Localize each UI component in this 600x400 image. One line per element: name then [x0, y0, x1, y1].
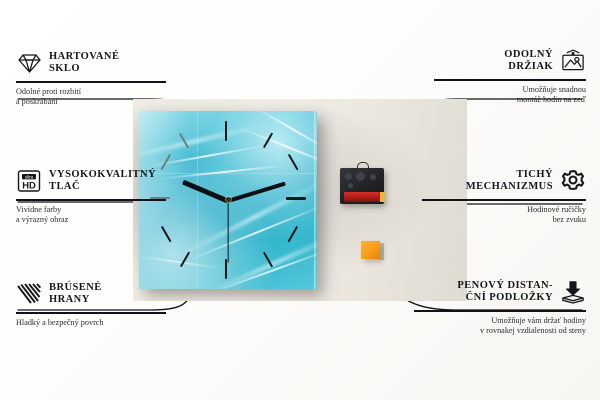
feature-description: Hodinové ručičky bez zvuku [422, 205, 586, 225]
feature-foam-spacers[interactable]: PENOVÝ DISTAN- ČNÍ PODLOŽKY Umožňuje vám… [414, 279, 586, 336]
feature-divider [414, 310, 586, 312]
mechanism-detail [356, 172, 365, 181]
mechanism-detail [348, 183, 353, 188]
feature-title: TICHÝ MECHANIZMUS [466, 169, 553, 194]
feature-description: Hladký a bezpečný povrch [16, 318, 166, 328]
product-photo [133, 99, 467, 301]
feature-header: ultra HD VYSOKOKVALITNÝ TLAČ [16, 168, 166, 194]
infographic-canvas: HARTOVANÉ SKLO Odolné proti rozbití a po… [0, 0, 600, 400]
feature-description: Umožňuje vám držať hodiny v rovnakej vzd… [414, 316, 586, 336]
glass-seam [197, 111, 198, 289]
feature-silent-mechanism[interactable]: TICHÝ MECHANIZMUS Hodinové ručičky bez z… [422, 168, 586, 225]
mechanism-battery [344, 192, 380, 202]
feature-durable-hanger[interactable]: ODOLNÝ DRŽIAK Umožňuje snadnou montáž ho… [434, 48, 586, 105]
feature-header: PENOVÝ DISTAN- ČNÍ PODLOŽKY [414, 279, 586, 305]
feature-title: VYSOKOKVALITNÝ TLAČ [49, 169, 156, 194]
feature-divider [422, 199, 586, 201]
feature-title: BRÚSENÉ HRANY [49, 282, 102, 307]
feature-divider [16, 312, 166, 314]
second-hand [227, 201, 228, 263]
svg-text:HD: HD [22, 179, 36, 190]
picture-hanger-icon [560, 48, 586, 74]
foam-pad-icon [560, 279, 586, 305]
feature-description: Umožňuje snadnou montáž hodin na zeď [434, 85, 586, 105]
feature-description: Vivídne farby a výrazný obraz [16, 205, 166, 225]
ultra-hd-icon: ultra HD [16, 168, 42, 194]
glass-edge-highlight [314, 111, 317, 289]
feature-header: ODOLNÝ DRŽIAK [434, 48, 586, 74]
feature-header: HARTOVANÉ SKLO [16, 50, 166, 76]
beveled-edge-icon [16, 281, 42, 307]
clock-mechanism [340, 162, 384, 204]
tick-3 [286, 197, 306, 200]
feature-ground-edges[interactable]: BRÚSENÉ HRANY Hladký a bezpečný povrch [16, 281, 166, 328]
feature-title: ODOLNÝ DRŽIAK [504, 49, 553, 74]
feature-header: TICHÝ MECHANIZMUS [422, 168, 586, 194]
diamond-icon [16, 50, 42, 76]
feature-title: PENOVÝ DISTAN- ČNÍ PODLOŽKY [457, 280, 553, 305]
gear-icon [560, 168, 586, 194]
feature-high-quality-print[interactable]: ultra HD VYSOKOKVALITNÝ TLAČ Vivídne far… [16, 168, 166, 225]
feature-divider [434, 79, 586, 81]
battery-terminal [380, 192, 385, 202]
mechanism-detail [345, 173, 352, 180]
mechanism-detail [370, 174, 376, 180]
mechanism-housing [340, 168, 384, 204]
feature-divider [16, 81, 166, 83]
clock-hub [226, 197, 231, 202]
foam-spacer-pad [361, 241, 380, 259]
feature-description: Odolné proti rozbití a poškrábání [16, 87, 166, 107]
feature-tempered-glass[interactable]: HARTOVANÉ SKLO Odolné proti rozbití a po… [16, 50, 166, 107]
feature-header: BRÚSENÉ HRANY [16, 281, 166, 307]
feature-divider [16, 199, 166, 201]
feature-title: HARTOVANÉ SKLO [49, 51, 119, 76]
